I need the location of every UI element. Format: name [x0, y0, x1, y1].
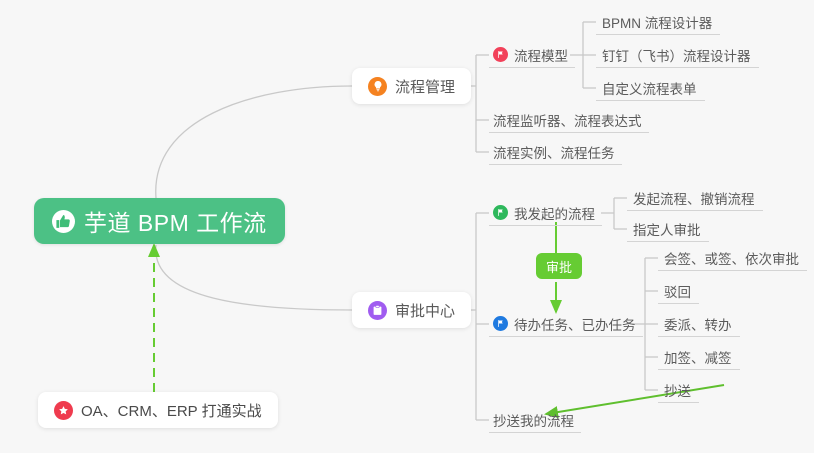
sub-node-label: 我发起的流程	[514, 203, 595, 223]
sub-node-process-instance[interactable]: 流程实例、流程任务	[489, 139, 622, 165]
leaf-node[interactable]: 驳回	[658, 278, 699, 304]
leaf-label: BPMN 流程设计器	[602, 12, 712, 32]
clipboard-icon	[368, 301, 387, 320]
branch-label: 审批中心	[395, 300, 455, 321]
sub-node-label: 抄送我的流程	[493, 410, 574, 430]
root-label: 芋道 BPM 工作流	[84, 204, 267, 238]
thumbs-up-icon	[52, 210, 75, 233]
leaf-label: 钉钉（飞书）流程设计器	[602, 45, 751, 65]
leaf-node[interactable]: BPMN 流程设计器	[596, 9, 720, 35]
leaf-label: 自定义流程表单	[602, 78, 697, 98]
sub-node-todo-done-tasks[interactable]: 待办任务、已办任务	[489, 311, 643, 337]
sub-node-process-model[interactable]: 流程模型	[489, 42, 575, 68]
sub-node-process-listener[interactable]: 流程监听器、流程表达式	[489, 107, 649, 133]
leaf-node[interactable]: 委派、转办	[658, 311, 740, 337]
leaf-label: 加签、减签	[664, 347, 732, 367]
root-node[interactable]: 芋道 BPM 工作流	[34, 198, 285, 244]
sub-node-label: 待办任务、已办任务	[514, 314, 636, 334]
leaf-node[interactable]: 钉钉（飞书）流程设计器	[596, 42, 759, 68]
branch-label: 流程管理	[395, 76, 455, 97]
sub-node-label: 流程实例、流程任务	[493, 142, 615, 162]
flag-icon	[493, 47, 508, 62]
branch-node-process-management[interactable]: 流程管理	[352, 68, 471, 104]
footer-card-integration[interactable]: OA、CRM、ERP 打通实战	[38, 392, 278, 428]
leaf-node[interactable]: 抄送	[658, 377, 699, 403]
leaf-node[interactable]: 会签、或签、依次审批	[658, 245, 807, 271]
leaf-label: 抄送	[664, 380, 691, 400]
leaf-node[interactable]: 指定人审批	[627, 216, 709, 242]
footer-card-label: OA、CRM、ERP 打通实战	[81, 400, 262, 421]
sub-node-label: 流程模型	[514, 45, 568, 65]
leaf-label: 委派、转办	[664, 314, 732, 334]
flag-icon	[493, 316, 508, 331]
leaf-label: 驳回	[664, 281, 691, 301]
leaf-node[interactable]: 发起流程、撤销流程	[627, 185, 763, 211]
leaf-node[interactable]: 加签、减签	[658, 344, 740, 370]
sub-node-my-initiated-process[interactable]: 我发起的流程	[489, 200, 602, 226]
mindmap-canvas[interactable]: 芋道 BPM 工作流 流程管理 流程模型 BPMN 流程设计器 钉钉（飞书）流程…	[0, 0, 814, 453]
sub-node-cc-to-me[interactable]: 抄送我的流程	[489, 407, 581, 433]
star-icon	[54, 401, 73, 420]
approve-tag: 审批	[536, 253, 582, 279]
flag-icon	[493, 205, 508, 220]
leaf-node[interactable]: 自定义流程表单	[596, 75, 705, 101]
approve-tag-label: 审批	[546, 257, 572, 276]
leaf-label: 发起流程、撤销流程	[633, 188, 755, 208]
leaf-label: 指定人审批	[633, 219, 701, 239]
sub-node-label: 流程监听器、流程表达式	[493, 110, 642, 130]
lightbulb-icon	[368, 77, 387, 96]
leaf-label: 会签、或签、依次审批	[664, 248, 799, 268]
branch-node-approval-center[interactable]: 审批中心	[352, 292, 471, 328]
